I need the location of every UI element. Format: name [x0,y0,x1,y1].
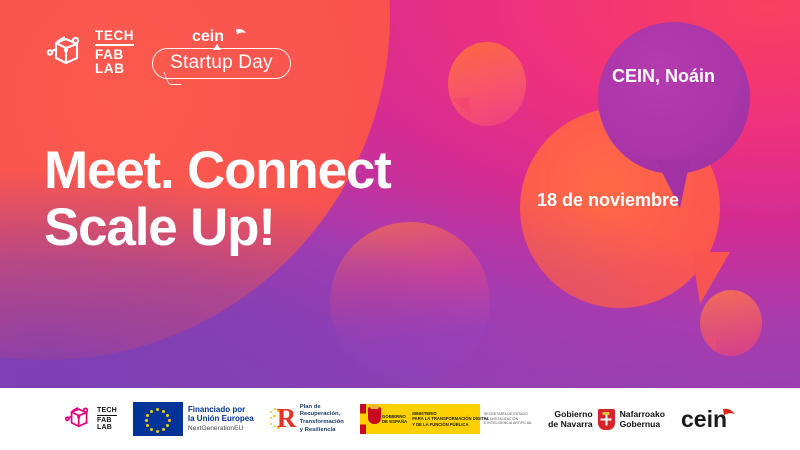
footer-techfablab-wordmark: TECH FAB LAB [97,407,117,432]
footer-techfablab-logo: TECH FAB LAB [63,402,117,437]
spain-gobierno-text: GOBIERNO DE ESPAÑA [382,414,407,425]
eu-funding-logo: Financiado por la Unión Europea NextGene… [133,402,254,436]
spain-side-line1: SECRETARÍA DE ESTADO [484,412,532,417]
badge-text-pday: p Day [222,52,273,73]
eu-text-line2: la Unión Europea [188,415,254,424]
headline-line-2: Scale Up! [44,199,391,256]
prtr-mark-icon: R [270,404,296,434]
techfablab-cube-icon [44,29,86,76]
spain-yellow-block: GOBIERNO DE ESPAÑA MINISTERIO PARA LA TR… [360,404,480,434]
techfablab-line-fab: FAB [95,48,124,62]
prtr-line1: Plan de [300,404,344,412]
footer-tfl-fab: FAB [97,417,112,424]
event-location: CEIN, Noáin [612,66,715,87]
page-title: Meet. Connect Scale Up! [44,142,391,256]
svg-text:cein: cein [681,406,727,432]
spain-gob-line2: DE ESPAÑA [382,419,407,425]
prtr-line4: y Resiliencia [300,427,344,435]
speech-bubble-tiny [700,290,762,356]
navarra-basque-text: Nafarroako Gobernua [620,409,665,430]
event-date: 18 de noviembre [537,190,679,211]
techfablab-line-lab: LAB [95,62,125,76]
techfablab-cube-icon-footer [63,402,93,437]
prtr-line3: Transformación [300,419,344,427]
spain-min-line3: Y DE LA FUNCIÓN PÚBLICA [412,422,489,427]
speech-bubble-small [448,42,526,126]
navarra-coat-of-arms-icon [598,409,615,430]
navarra-eu-line1: Nafarroako [620,409,665,419]
prtr-text: Plan de Recuperación, Transformación y R… [300,404,344,435]
startup-day-logo: cein Startup Day [152,26,291,79]
footer-tfl-tech: TECH [97,407,117,414]
navarra-government-logo: Gobierno de Navarra Nafarroako Gobernua [548,409,665,430]
badge-text-u: u [211,52,222,73]
spain-government-logo: GOBIERNO DE ESPAÑA MINISTERIO PARA LA TR… [360,404,532,434]
navarra-eu-line2: Gobernua [620,419,665,429]
spain-secretaria-text: SECRETARÍA DE ESTADO DE DIGITALIZACIÓN E… [484,412,532,426]
header-logos: TECH FAB LAB cein Startup Day [44,26,291,79]
spain-side-line3: E INTELIGENCIA ARTIFICIAL [484,421,532,426]
eu-flag-icon [133,402,183,436]
badge-text-start: Start [170,52,211,73]
cein-wordmark-header: cein [192,26,250,46]
spain-ministerio-text: MINISTERIO PARA LA TRANSFORMACIÓN DIGITA… [412,411,489,427]
navarra-es-line1: Gobierno [548,409,592,419]
speech-bubble-purple [598,22,750,174]
headline-line-1: Meet. Connect [44,142,391,199]
prtr-line2: Recuperación, [300,411,344,419]
techfablab-logo: TECH FAB LAB [44,29,134,77]
prtr-logo: R Plan de Recuperación, Transformación y… [270,404,344,435]
footer-logo-bar: TECH FAB LAB Fi [0,388,800,450]
svg-text:cein: cein [192,28,224,45]
spain-coat-of-arms-icon [368,407,381,424]
navarra-spanish-text: Gobierno de Navarra [548,409,592,430]
eu-funding-text: Financiado por la Unión Europea NextGene… [188,406,254,432]
startup-day-badge: Startup Day [152,48,291,79]
cein-wordmark-icon: cein [681,406,737,432]
footer-cein-logo: cein [681,406,737,432]
navarra-es-line2: de Navarra [548,419,592,429]
techfablab-wordmark: TECH FAB LAB [95,29,134,77]
spain-min-line2: PARA LA TRANSFORMACIÓN DIGITAL [412,416,489,421]
footer-tfl-lab: LAB [97,424,112,431]
eu-text-line3: NextGenerationEU [188,425,254,432]
techfablab-line-tech: TECH [95,29,134,43]
event-banner: TECH FAB LAB cein Startup Day Meet. Conn… [0,0,800,450]
